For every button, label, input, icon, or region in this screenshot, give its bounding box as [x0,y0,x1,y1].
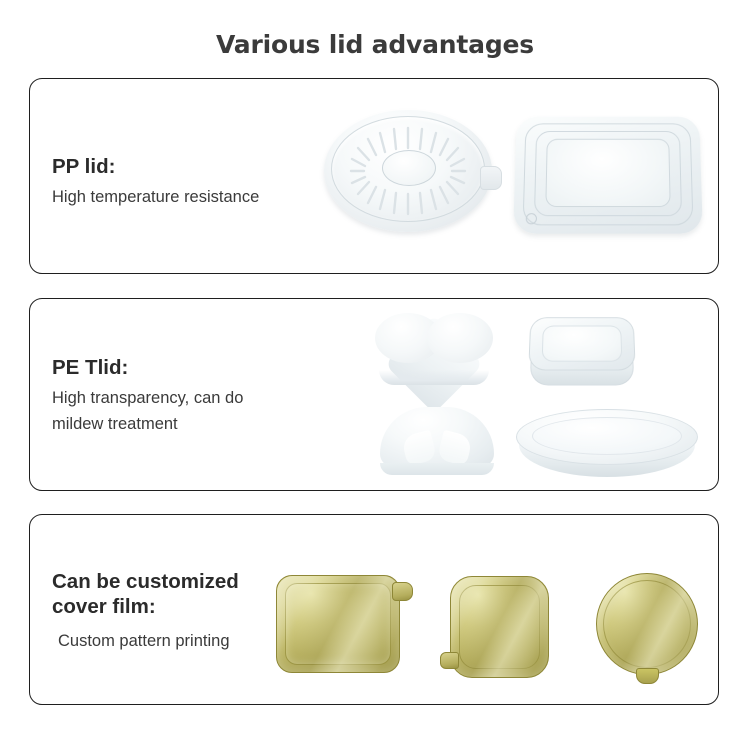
pp-lid-text-block: PP lid: High temperature resistance [52,154,259,210]
pe-lid-subtext: High transparency, can do mildew treatme… [52,385,243,437]
gold-rect-inset [285,583,391,665]
pe-heart-lobe-right [427,313,493,363]
gold-foil-rectangular-lid-image [276,575,400,673]
pp-rect-dimple [526,213,537,224]
card-cover-film: Can be customized cover film: Custom pat… [29,514,719,705]
gold-round-inset [603,580,691,668]
pe-lid-heading: PE Tlid: [52,355,243,380]
pe-square-inner-panel [542,325,623,361]
gold-foil-round-lid-image [596,573,698,675]
pp-round-lid-image [324,110,492,232]
pe-heart-lip [379,370,489,385]
pe-lid-text-block: PE Tlid: High transparency, can do milde… [52,355,243,437]
gold-round-tab [636,668,659,684]
card-pp-lid: PP lid: High temperature resistance [29,78,719,274]
pe-dome-lid-image [380,407,494,475]
cover-film-subtext: Custom pattern printing [52,628,239,654]
pe-dome-rim [380,463,494,475]
pe-square-dome-lid-image [528,317,637,386]
cover-film-text-block: Can be customized cover film: Custom pat… [52,569,239,654]
gold-foil-square-lid-image [450,576,549,678]
pp-lid-center-panel [382,150,436,186]
pp-lid-subtext: High temperature resistance [52,184,259,210]
pe-dome-cap [380,407,494,467]
pp-rectangular-lid-image [513,116,703,233]
cover-film-heading: Can be customized cover film: [52,569,239,619]
pe-oval-lid-image [516,409,698,481]
pe-heart-lid-image [375,313,493,387]
pe-oval-inner-panel [532,417,682,455]
gold-rect-tab [392,582,413,601]
page-title: Various lid advantages [0,17,750,62]
gold-square-inset [459,585,540,669]
card-pe-lid: PE Tlid: High transparency, can do milde… [29,298,719,491]
gold-square-tab [440,652,459,669]
pp-lid-heading: PP lid: [52,154,259,179]
pp-rect-groove-inner [545,139,670,207]
